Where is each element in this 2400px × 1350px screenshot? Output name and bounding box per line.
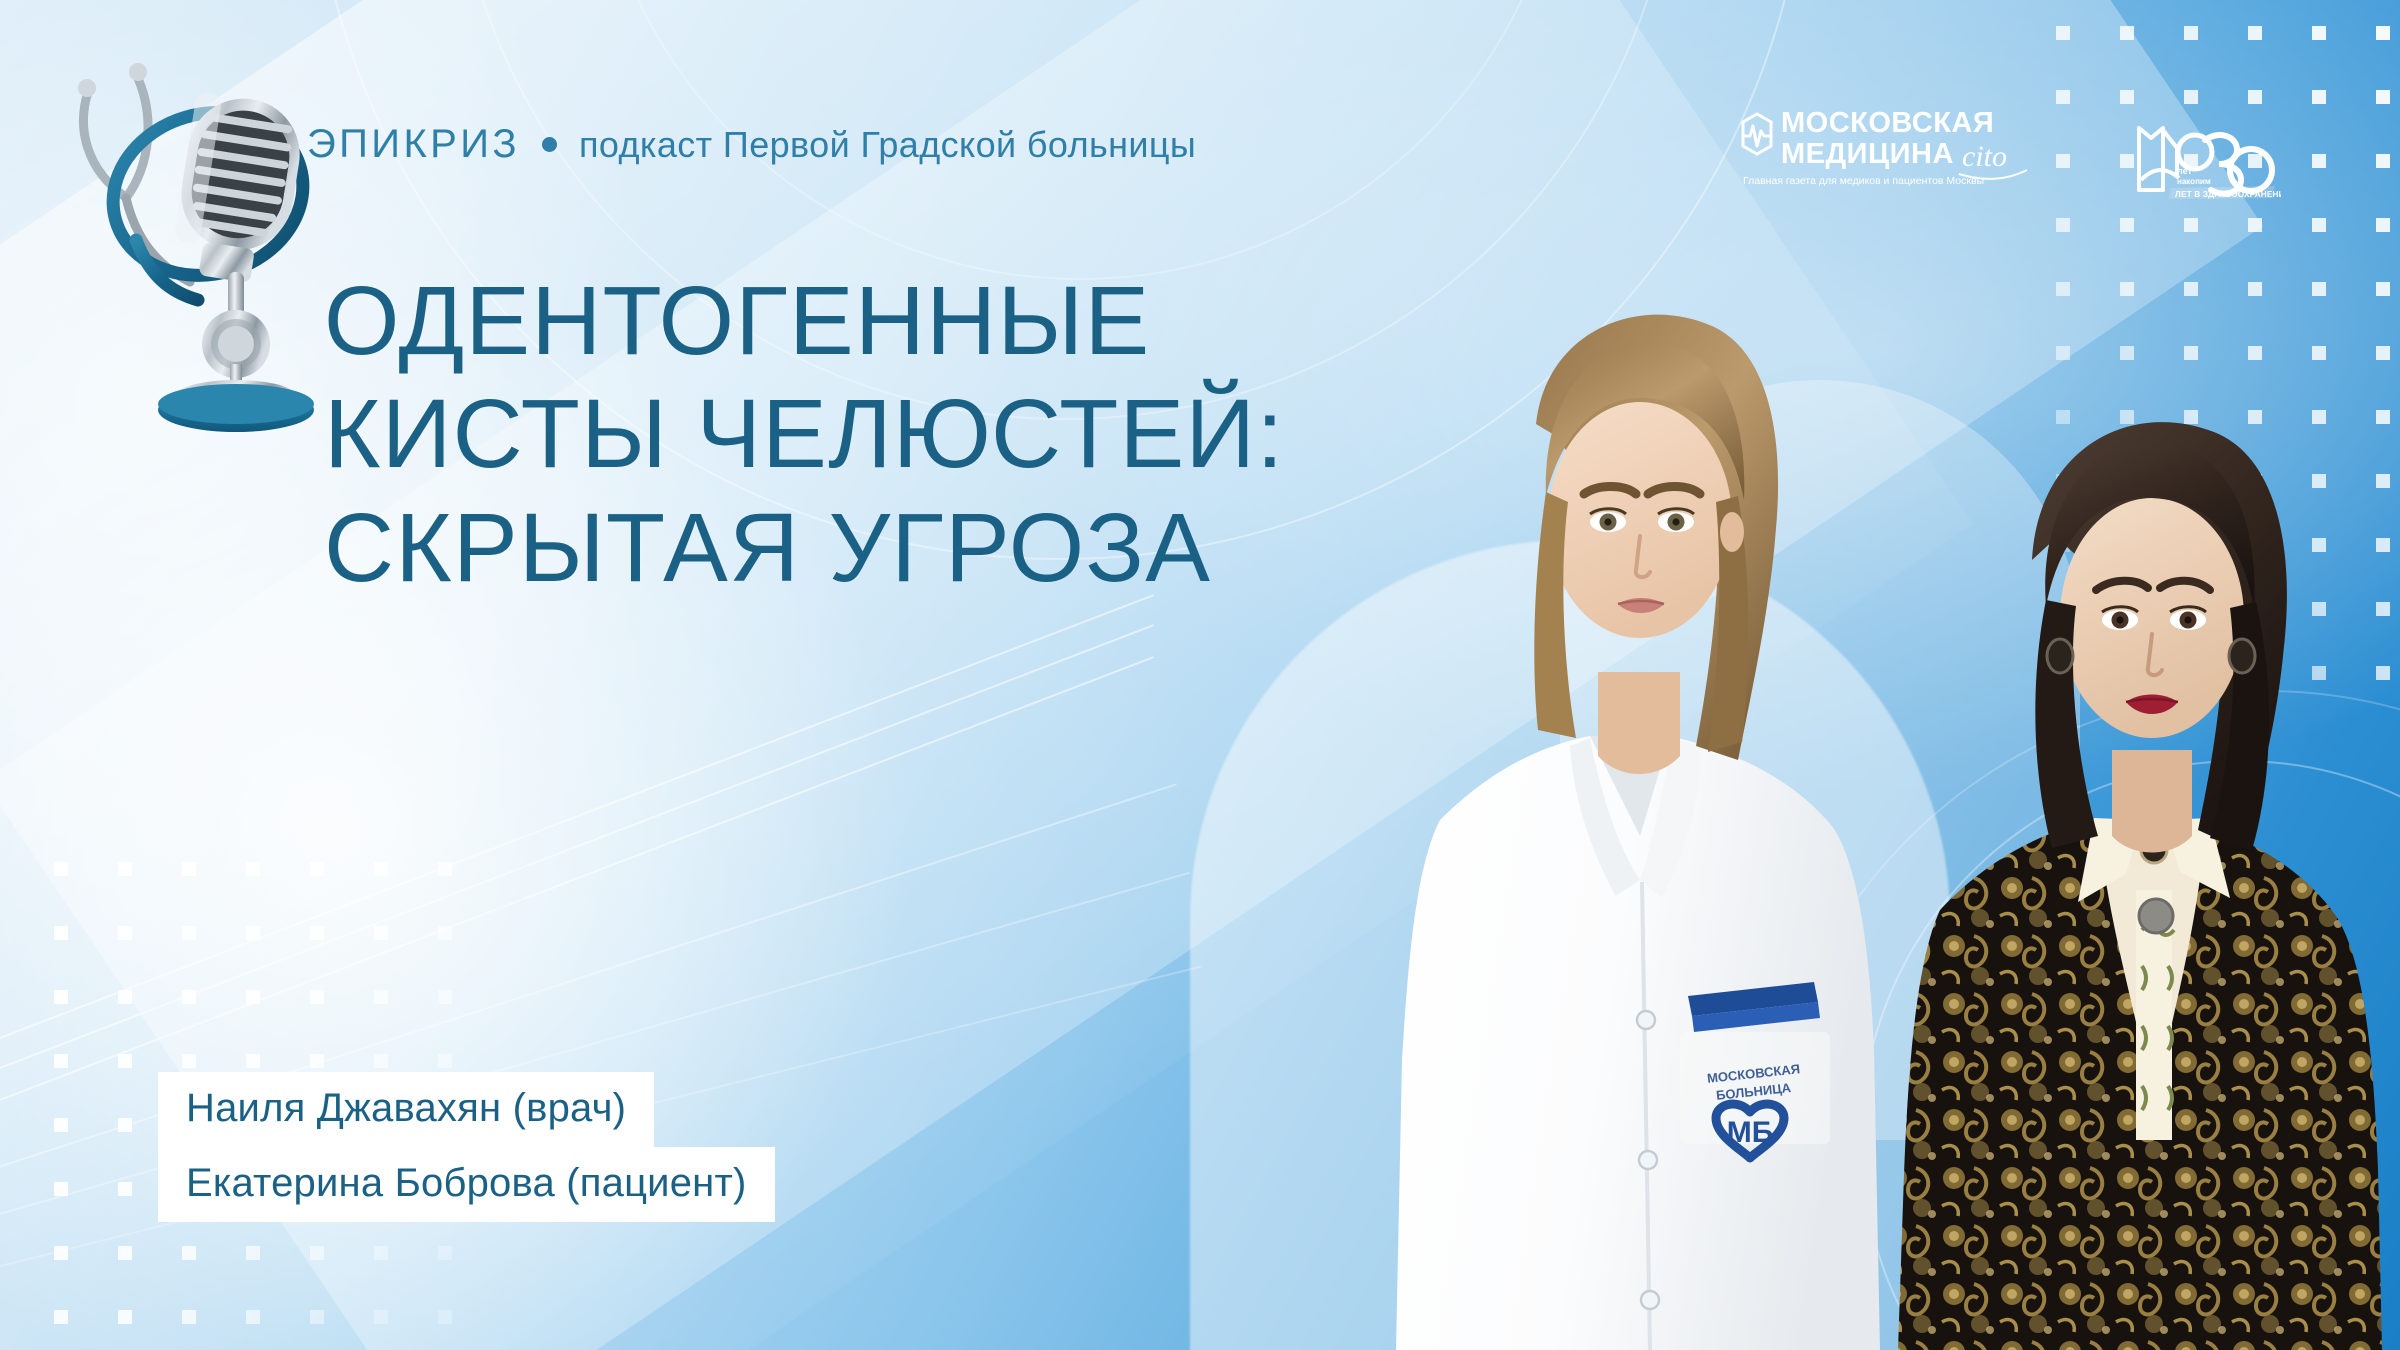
logo-line-1: МОСКОВСКАЯ <box>1781 107 1994 139</box>
episode-title: ОДЕНТОГЕННЫЕ КИСТЫ ЧЕЛЮСТЕЙ: СКРЫТАЯ УГР… <box>324 264 1284 604</box>
patient-photo <box>1880 350 2400 1350</box>
uniform-badge-monogram: МБ <box>1727 1116 1774 1149</box>
moscow-medicine-logo: МОСКОВСКАЯ МЕДИЦИНА cito Главная газета … <box>1735 100 2035 192</box>
microphone-stethoscope-icon <box>40 44 340 434</box>
logo-line-2: МЕДИЦИНА <box>1781 138 1954 170</box>
mozo-anniversary-logo: лет накопим ЛЕТ В ЗДРАВООХРАНЕНИИ <box>2133 118 2281 204</box>
logo-tagline: Главная газета для медиков и пациентов М… <box>1743 175 1984 187</box>
logo-ribbon-text: ЛЕТ В ЗДРАВООХРАНЕНИИ <box>2175 190 2281 199</box>
show-name: ЭПИКРИЗ <box>307 122 520 167</box>
title-line-1: ОДЕНТОГЕННЫЕ <box>324 264 1284 377</box>
participant-chip-patient: Екатерина Боброва (пациент) <box>158 1147 775 1222</box>
show-subtitle: подкаст Первой Градской больницы <box>579 124 1196 166</box>
title-line-3: СКРЫТАЯ УГРОЗА <box>324 491 1284 604</box>
participants-list: Наиля Джавахян (врач) Екатерина Боброва … <box>158 1072 775 1222</box>
logo-cito-mark: cito <box>1962 140 2007 173</box>
show-tagline: ЭПИКРИЗ подкаст Первой Градской больницы <box>307 122 1196 167</box>
title-line-2: КИСТЫ ЧЕЛЮСТЕЙ: <box>324 377 1284 490</box>
logo-small-line-1: лет <box>2177 166 2192 176</box>
participant-chip-doctor: Наиля Джавахян (врач) <box>158 1072 654 1147</box>
bullet-separator-icon <box>542 137 557 152</box>
doctor-photo: МОСКОВСКАЯ БОЛЬНИЦА МБ <box>1340 260 1900 1350</box>
podcast-cover: ЭПИКРИЗ подкаст Первой Градской больницы… <box>0 0 2400 1350</box>
logo-small-line-2: накопим <box>2177 177 2211 186</box>
